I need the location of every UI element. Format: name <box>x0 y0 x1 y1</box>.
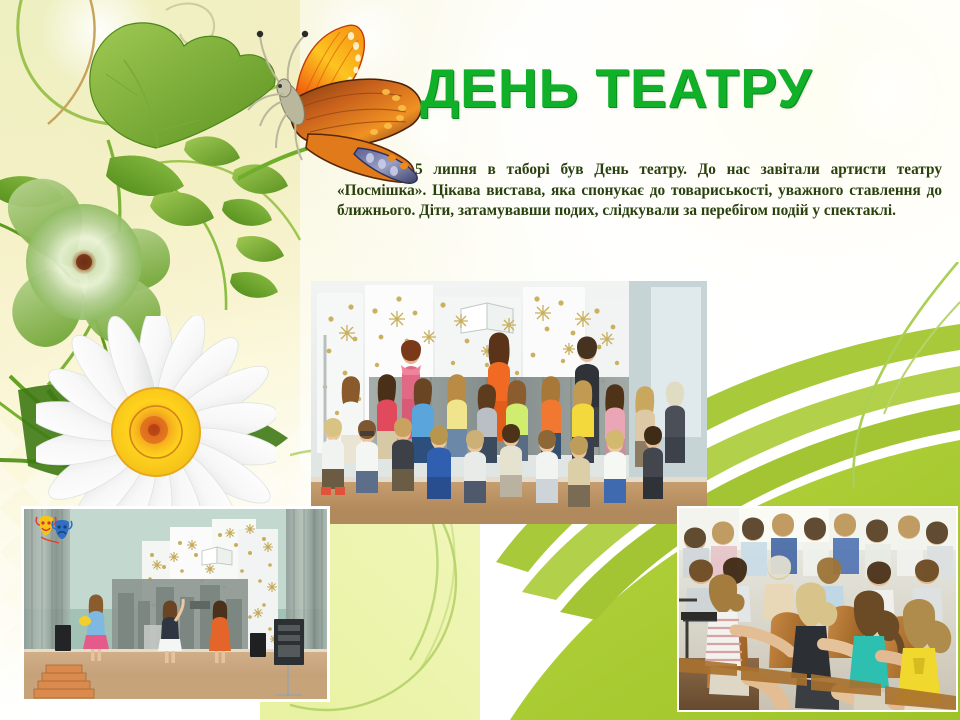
photo-stage-performance-image <box>24 509 327 699</box>
photo-audience-image <box>679 508 956 710</box>
page-title: ДЕНЬ ТЕАТРУ <box>420 56 812 120</box>
photo-audience[interactable] <box>677 506 958 712</box>
right-vine-swirl <box>828 262 960 492</box>
photo-stage-performance[interactable] <box>21 506 330 702</box>
photo-main-group[interactable] <box>311 281 707 524</box>
body-paragraph: 5 липня в таборі був День театру. До нас… <box>337 160 942 222</box>
photo-main-group-image <box>311 281 707 524</box>
slide-canvas: ДЕНЬ ТЕАТРУ 5 липня в таборі був День те… <box>0 0 960 720</box>
